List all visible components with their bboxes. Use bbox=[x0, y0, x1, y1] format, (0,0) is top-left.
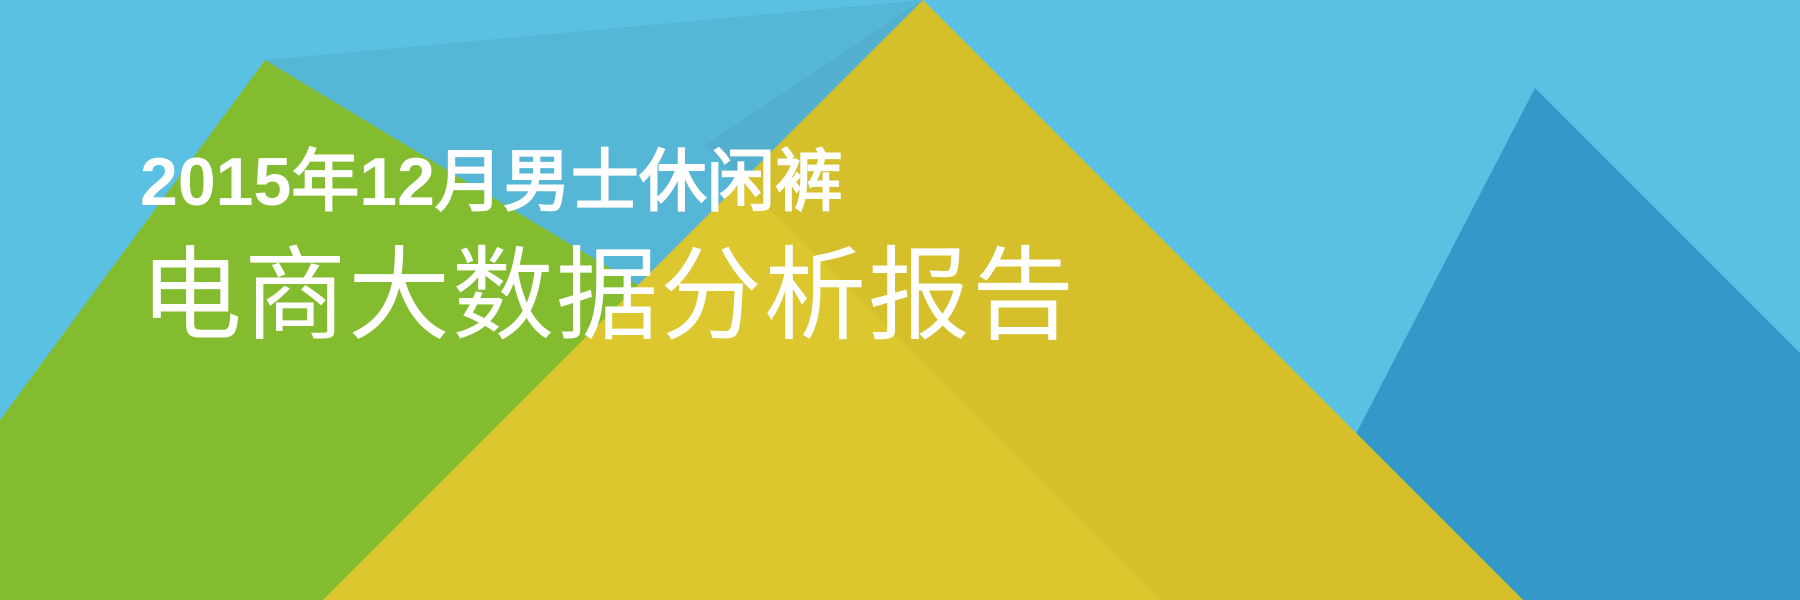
report-cover-banner: 2015年12月男士休闲裤 电商大数据分析报告 bbox=[0, 0, 1800, 600]
background-artwork bbox=[0, 0, 1800, 600]
